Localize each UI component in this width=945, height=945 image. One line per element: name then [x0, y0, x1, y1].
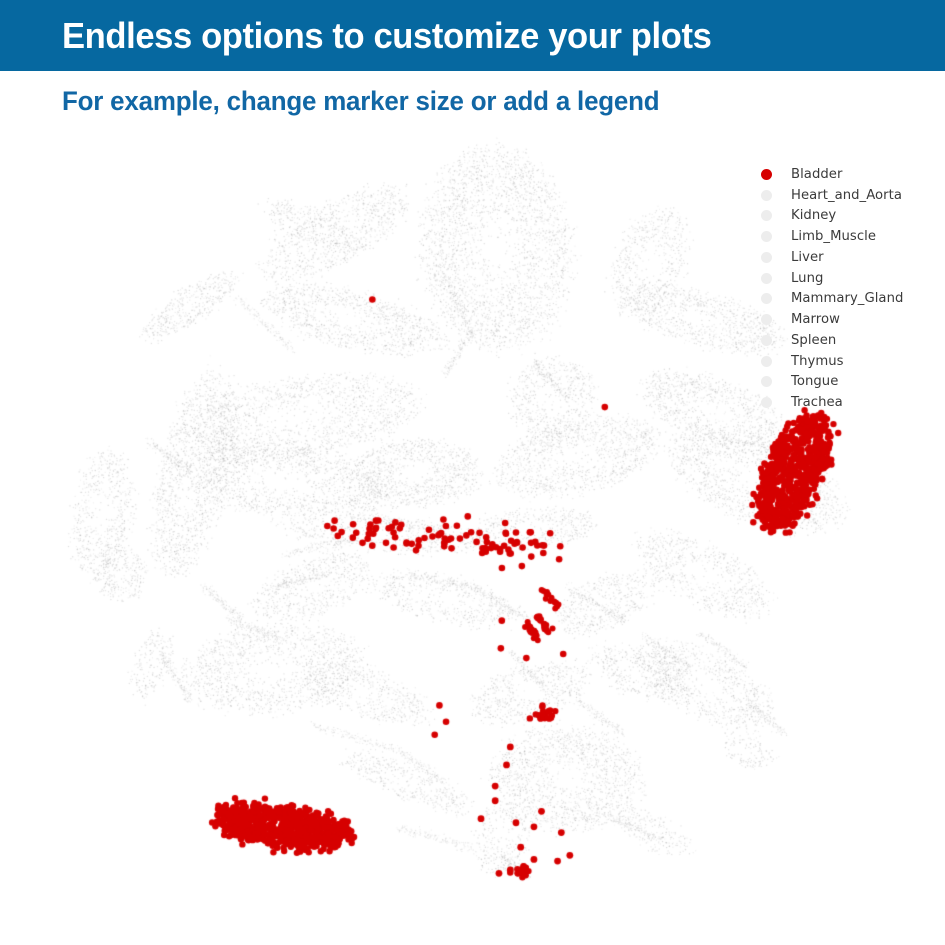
legend-item[interactable]: Lung: [756, 268, 941, 289]
legend-item-label: Mammary_Gland: [791, 291, 903, 306]
legend-marker-icon: [761, 293, 772, 304]
legend-item-label: Tongue: [791, 374, 838, 389]
legend-item[interactable]: Limb_Muscle: [756, 226, 941, 247]
legend-marker-icon: [761, 314, 772, 325]
legend-item[interactable]: Kidney: [756, 206, 941, 227]
legend-marker-icon: [761, 169, 772, 180]
legend-item-label: Marrow: [791, 312, 840, 327]
legend-item-label: Spleen: [791, 333, 836, 348]
legend-item[interactable]: Bladder: [756, 164, 941, 185]
page-title: Endless options to customize your plots: [62, 15, 711, 57]
header-banner: Endless options to customize your plots: [0, 0, 945, 71]
legend-item[interactable]: Spleen: [756, 330, 941, 351]
legend-item[interactable]: Liver: [756, 247, 941, 268]
legend-item[interactable]: Thymus: [756, 351, 941, 372]
legend-item-label: Liver: [791, 250, 824, 265]
legend-item-label: Bladder: [791, 167, 842, 182]
subtitle: For example, change marker size or add a…: [62, 86, 659, 117]
legend-item[interactable]: Tongue: [756, 372, 941, 393]
legend-marker-icon: [761, 356, 772, 367]
legend-marker-icon: [761, 190, 772, 201]
legend-marker-icon: [761, 231, 772, 242]
legend-item[interactable]: Trachea: [756, 392, 941, 413]
legend: BladderHeart_and_AortaKidneyLimb_MuscleL…: [756, 164, 941, 413]
legend-item-label: Limb_Muscle: [791, 229, 876, 244]
legend-marker-icon: [761, 397, 772, 408]
legend-item-label: Trachea: [791, 395, 843, 410]
legend-marker-icon: [761, 210, 772, 221]
legend-item-label: Heart_and_Aorta: [791, 188, 902, 203]
legend-item-label: Kidney: [791, 208, 836, 223]
legend-item[interactable]: Mammary_Gland: [756, 289, 941, 310]
legend-item-label: Lung: [791, 271, 823, 286]
legend-marker-icon: [761, 252, 772, 263]
legend-marker-icon: [761, 376, 772, 387]
legend-marker-icon: [761, 273, 772, 284]
slide-root: Endless options to customize your plots …: [0, 0, 945, 945]
legend-item-label: Thymus: [791, 354, 844, 369]
legend-marker-icon: [761, 335, 772, 346]
legend-item[interactable]: Heart_and_Aorta: [756, 185, 941, 206]
legend-item[interactable]: Marrow: [756, 309, 941, 330]
